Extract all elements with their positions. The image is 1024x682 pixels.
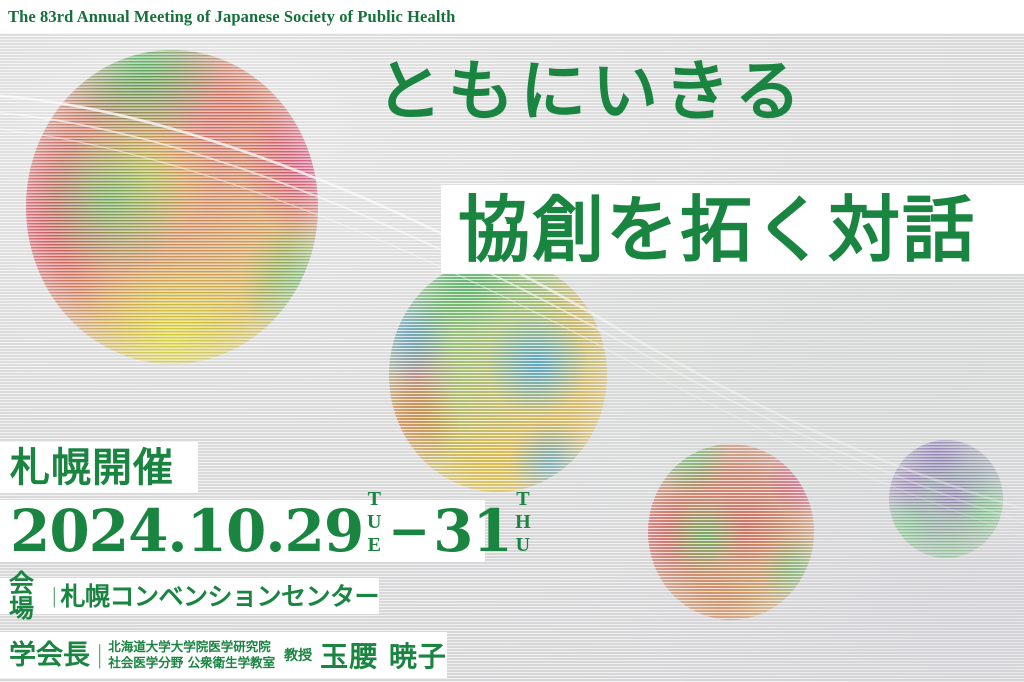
- headline-line-2: 協創を拓く対話: [458, 191, 976, 269]
- chairperson-band: 学会長 | 北海道大学大学院医学研究院 社会医学分野 公衆衛生学教室 教授 玉腰…: [0, 632, 447, 678]
- date-end-day-of-week: THU: [513, 488, 533, 562]
- venue-label: 会場: [9, 571, 47, 621]
- venue-separator: |: [52, 583, 56, 609]
- orb-edge-softening: [389, 258, 607, 492]
- chairperson-affiliation-line-2: 社会医学分野 公衆衛生学教室: [108, 655, 275, 670]
- chairperson-rank: 教授: [284, 645, 312, 665]
- chairperson-name: 玉腰 暁子: [320, 635, 447, 675]
- orb-edge-softening: [889, 440, 1003, 558]
- location-badge: 札幌開催: [0, 442, 198, 493]
- headline-line-1: ともにいきる: [376, 58, 807, 124]
- location-badge-label: 札幌開催: [10, 448, 174, 488]
- date-range-separator: −: [388, 506, 430, 556]
- chairperson-separator: |: [97, 640, 102, 670]
- date-start-day-of-week: TUE: [364, 488, 384, 562]
- date-row: 2024.10.29 TUE − 31 THU: [10, 500, 534, 562]
- orb-edge-softening: [26, 50, 318, 364]
- chairperson-affiliation-line-1: 北海道大学大学院医学研究院: [108, 639, 271, 654]
- gradient-orb-large: [26, 50, 318, 364]
- conference-poster: The 83rd Annual Meeting of Japanese Soci…: [0, 0, 1024, 682]
- chairperson-affiliation: 北海道大学大学院医学研究院 社会医学分野 公衆衛生学教室: [108, 639, 275, 672]
- gradient-orb-medium: [389, 258, 607, 492]
- gradient-orb-small: [648, 444, 814, 620]
- venue-band: 会場 | 札幌コンベンションセンター: [0, 578, 379, 614]
- venue-name: 札幌コンベンションセンター: [60, 584, 379, 609]
- date-start: 2024.10.29: [10, 502, 363, 560]
- chairperson-label: 学会長: [9, 642, 90, 669]
- conference-english-title: The 83rd Annual Meeting of Japanese Soci…: [8, 7, 455, 27]
- header-band: The 83rd Annual Meeting of Japanese Soci…: [0, 0, 1024, 33]
- date-end: 31: [433, 502, 512, 560]
- gradient-orb-tiny: [889, 440, 1003, 558]
- orb-edge-softening: [648, 444, 814, 620]
